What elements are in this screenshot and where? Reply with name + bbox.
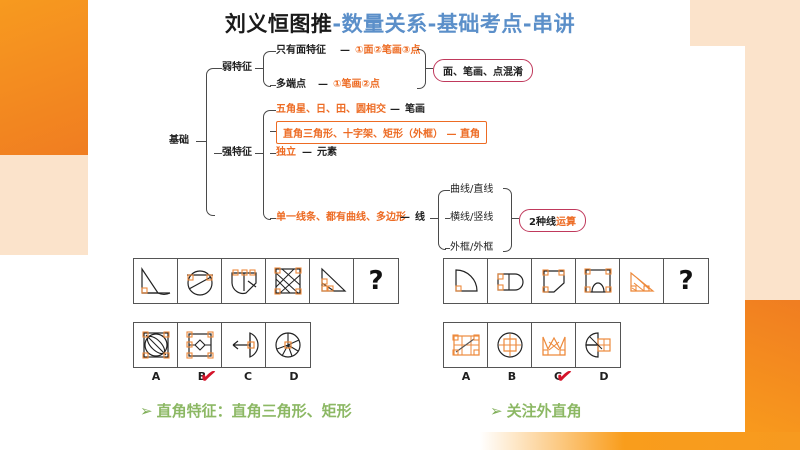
tree-weak-result-pill: 面、笔画、点混淆: [433, 59, 533, 82]
right-panel-question: ?: [664, 259, 708, 303]
title-main: 刘义恒图推: [225, 12, 333, 36]
tree-weak-item-0-left: 只有面特征: [276, 45, 326, 57]
right-question-panel-row: ?: [443, 258, 709, 304]
tree-strong-row1-left: 五角星、日、田、圆相交: [276, 104, 386, 116]
tree-strong-row3-left: 独立: [276, 147, 296, 159]
tree-connector: [255, 153, 263, 154]
right-option-d[interactable]: [576, 323, 620, 367]
tree-strong-row1-right: 笔画: [405, 104, 425, 116]
right-answer-tick-icon: ✔: [554, 363, 574, 389]
question-mark-icon: ?: [368, 268, 383, 294]
tree-weak-item-1-left: 多端点: [276, 79, 306, 91]
left-question-panel-row: ?: [133, 258, 399, 304]
left-label-c: C: [225, 370, 271, 383]
left-panel-1: [134, 259, 178, 303]
tree-weak-item-0-right: ①面②笔画③点: [355, 45, 420, 57]
tree-line-result-pill: 2种线运算: [519, 209, 586, 232]
tree-strong-row4-dash: —: [400, 212, 410, 224]
left-option-labels: A B ✔ C D: [133, 370, 317, 383]
right-option-row: [443, 322, 621, 368]
right-label-b: B: [489, 370, 535, 383]
tree-line-sub-brace: [438, 190, 446, 250]
tree-connector: [430, 218, 438, 219]
tree-strong-row4-right: 线: [415, 212, 425, 224]
left-panel-2: [178, 259, 222, 303]
decor-bottom-orange-bar: [0, 432, 800, 450]
tree-root-brace: [206, 68, 215, 216]
right-panel-3: [532, 259, 576, 303]
right-panel-4: [576, 259, 620, 303]
tree-line-sub-2: 外框/外框: [450, 242, 493, 254]
right-caption: ➢关注外直角: [490, 400, 582, 421]
tree-connector: [511, 218, 519, 219]
right-panel-5: [620, 259, 664, 303]
left-option-row: [133, 322, 311, 368]
question-mark-icon: ?: [678, 268, 693, 294]
decor-right-orange-corner: [745, 300, 800, 450]
left-panel-4: [266, 259, 310, 303]
tree-strong-boxed-row: 直角三角形、十字架、矩形（外框） — 直角: [276, 121, 487, 144]
left-label-d: D: [271, 370, 317, 383]
right-label-d: D: [581, 370, 627, 383]
left-option-d[interactable]: [266, 323, 310, 367]
left-label-a: A: [133, 370, 179, 383]
left-panel-3: [222, 259, 266, 303]
tree-strong-row4-left: 单一线条、都有曲线、多边形: [276, 212, 406, 224]
mindmap-tree: 基础 弱特征 只有面特征 — ①面②笔画③点 多端点 — ①笔画②点 面、笔画、…: [0, 55, 800, 255]
left-panel-question: ?: [354, 259, 398, 303]
right-option-b[interactable]: [488, 323, 532, 367]
tree-strong-label: 强特征: [222, 147, 252, 159]
tree-connector: [214, 68, 222, 69]
tree-connector: [255, 68, 263, 69]
decor-bottom-left-white: [0, 432, 90, 450]
tree-strong-row1-dash: —: [390, 104, 400, 116]
right-option-a[interactable]: [444, 323, 488, 367]
tree-weak-result-brace: [417, 49, 426, 89]
left-label-b: B ✔: [179, 370, 225, 383]
tree-connector: [196, 141, 206, 142]
title-subtitle: -数量关系-基础考点-串讲: [332, 12, 575, 36]
tree-weak-item-0-dash: —: [340, 45, 350, 57]
right-label-c: C ✔: [535, 370, 581, 383]
tree-line-result-count: 2种线: [529, 217, 556, 228]
left-option-b[interactable]: [178, 323, 222, 367]
tree-line-result-op: 运算: [556, 217, 576, 228]
decor-left-white-block: [0, 255, 88, 450]
right-option-labels: A B C ✔ D: [443, 370, 627, 383]
tree-strong-row3-dash: —: [302, 147, 312, 159]
tree-weak-label: 弱特征: [222, 62, 252, 74]
tree-root-label: 基础: [169, 135, 189, 147]
tree-line-sub-0: 曲线/直线: [450, 184, 493, 196]
left-option-a[interactable]: [134, 323, 178, 367]
tree-strong-row3-right: 元素: [317, 147, 337, 159]
bullet-arrow-icon: ➢: [490, 402, 503, 420]
right-panel-1: [444, 259, 488, 303]
left-panel-5: [310, 259, 354, 303]
right-caption-text: 关注外直角: [507, 402, 582, 420]
left-option-c[interactable]: [222, 323, 266, 367]
right-label-a: A: [443, 370, 489, 383]
tree-connector: [214, 153, 222, 154]
left-caption-text: 直角特征：直角三角形、矩形: [157, 402, 352, 420]
tree-connector: [425, 68, 433, 69]
tree-weak-item-1-right: ①笔画②点: [333, 79, 380, 91]
bullet-arrow-icon: ➢: [140, 402, 153, 420]
right-option-c[interactable]: [532, 323, 576, 367]
tree-line-sub-1: 横线/竖线: [450, 212, 493, 224]
tree-line-result-brace: [503, 188, 512, 252]
tree-weak-brace: [263, 51, 271, 87]
tree-weak-item-1-dash: —: [318, 79, 328, 91]
left-answer-tick-icon: ✔: [198, 363, 218, 389]
page-title: 刘义恒图推-数量关系-基础考点-串讲: [0, 8, 800, 38]
right-panel-2: [488, 259, 532, 303]
left-caption: ➢直角特征：直角三角形、矩形: [140, 400, 352, 421]
tree-strong-brace: [263, 110, 271, 220]
